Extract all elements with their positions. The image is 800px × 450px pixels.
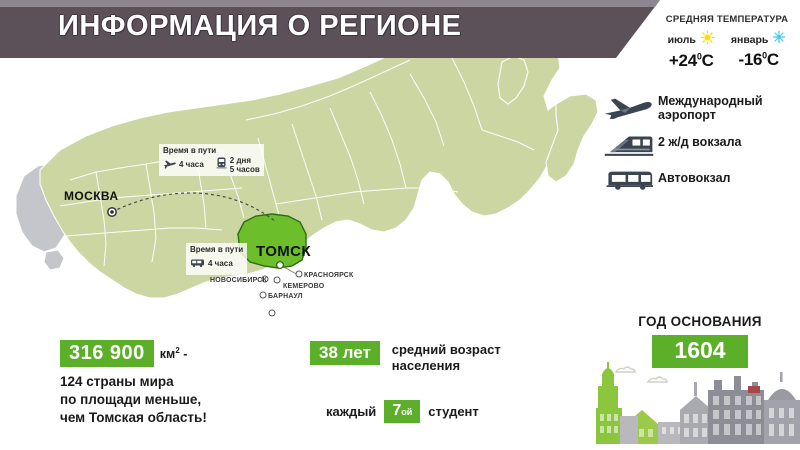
grey-building-dome xyxy=(764,372,800,444)
neighbor-landmass-2 xyxy=(44,250,64,270)
map-label-kemerovo: КЕМЕРОВО xyxy=(283,283,324,290)
callout-entry-train: 2 дня 5 часов xyxy=(216,156,260,174)
map-label-novosibirsk: НОВОСИБИРСК xyxy=(210,277,267,284)
map-label-tomsk: ТОМСК xyxy=(256,243,311,260)
transport-label: Автовокзал xyxy=(658,169,731,185)
area-unit-exponent: 2 xyxy=(175,346,179,355)
airplane-icon xyxy=(163,156,176,174)
airplane-icon xyxy=(600,92,658,120)
transport-label: Международный аэропорт xyxy=(658,92,800,123)
stat-average-age: 38 лет средний возраст населения xyxy=(310,341,501,375)
callout-entry-bus: 4 часа xyxy=(190,255,243,273)
student-ordinal-suffix: ой xyxy=(401,407,412,417)
student-prefix: каждый xyxy=(326,404,376,419)
bus-icon xyxy=(190,255,205,273)
russia-landmass xyxy=(40,22,598,298)
map-label-moscow: МОСКВА xyxy=(64,189,118,203)
callout-entry-plane: 4 часа xyxy=(163,156,204,174)
transport-label: 2 ж/д вокзала xyxy=(658,133,741,149)
transport-item-railway: 2 ж/д вокзала xyxy=(600,133,800,159)
area-description: 124 страны мира по площади меньше, чем Т… xyxy=(60,373,207,427)
green-church xyxy=(596,362,622,444)
temperature-value-july: +240C xyxy=(668,51,715,71)
student-number: 7 xyxy=(392,402,401,419)
transport-item-airport: Международный аэропорт xyxy=(600,92,800,123)
stat-area: 316 900км2 - 124 страны мира по площади … xyxy=(60,340,207,427)
foundation-year-title: ГОД ОСНОВАНИЯ xyxy=(600,314,800,329)
infographic-root: МОСКВА ТОМСК НОВОСИБИРСК КРАСНОЯРСК КЕМЕ… xyxy=(0,0,800,450)
train-icon xyxy=(216,156,227,174)
student-value-badge: 7ой xyxy=(384,400,420,423)
foundation-year-badge: 1604 xyxy=(652,335,747,368)
area-unit: км2 - xyxy=(160,347,188,361)
map-label-barnaul: БАРНАУЛ xyxy=(268,293,303,300)
travel-time-callout-tomsk: Время в пути 4 часа xyxy=(186,243,247,275)
area-dash: - xyxy=(183,347,187,361)
temperature-month-label: июль xyxy=(668,34,696,46)
temperature-unit: C xyxy=(702,51,714,70)
temperature-unit: C xyxy=(767,50,779,69)
callout-title: Время в пути xyxy=(163,146,260,155)
temperature-heading: СРЕДНЯЯ ТЕМПЕРАТУРА xyxy=(654,14,800,25)
transport-list: Международный аэропорт 2 ж/д вокзала xyxy=(600,92,800,203)
bus-icon xyxy=(600,169,658,193)
sun-icon xyxy=(700,30,715,50)
page-title: ИНФОРМАЦИЯ О РЕГИОНЕ xyxy=(58,10,462,43)
area-value-badge: 316 900 xyxy=(60,340,154,367)
student-suffix: студент xyxy=(428,404,479,419)
average-temperature-panel: СРЕДНЯЯ ТЕМПЕРАТУРА июль xyxy=(654,14,800,71)
callout-time: 2 дня 5 часов xyxy=(230,156,260,174)
train-icon xyxy=(600,133,658,159)
temperature-january: январь -160C xyxy=(731,30,787,71)
area-unit-text: км xyxy=(160,347,176,361)
stat-student-ratio: каждый 7ой студент xyxy=(326,400,479,423)
temperature-month-label: январь xyxy=(731,34,769,46)
temperature-number: -16 xyxy=(738,50,762,69)
temperature-number: +24 xyxy=(669,51,697,70)
callout-title: Время в пути xyxy=(190,245,243,254)
age-description: средний возраст населения xyxy=(392,341,501,375)
foundation-year-block: ГОД ОСНОВАНИЯ 1604 xyxy=(600,314,800,368)
grey-building-classical xyxy=(680,382,712,444)
callout-time: 4 часа xyxy=(208,259,233,268)
travel-time-callout-moscow: Время в пути 4 часа 2 дня 5 часов xyxy=(159,144,264,176)
grey-building-main xyxy=(708,376,764,444)
map-label-krasnoyarsk: КРАСНОЯРСК xyxy=(304,272,354,279)
header-banner-highlight xyxy=(0,0,660,7)
cloud-shapes xyxy=(616,367,667,382)
age-value-badge: 38 лет xyxy=(310,341,380,365)
temperature-value-january: -160C xyxy=(731,50,787,70)
transport-item-bus-station: Автовокзал xyxy=(600,169,800,193)
temperature-july: июль +240C xyxy=(668,30,715,71)
snowflake-icon xyxy=(772,30,786,49)
callout-time: 4 часа xyxy=(179,160,204,169)
